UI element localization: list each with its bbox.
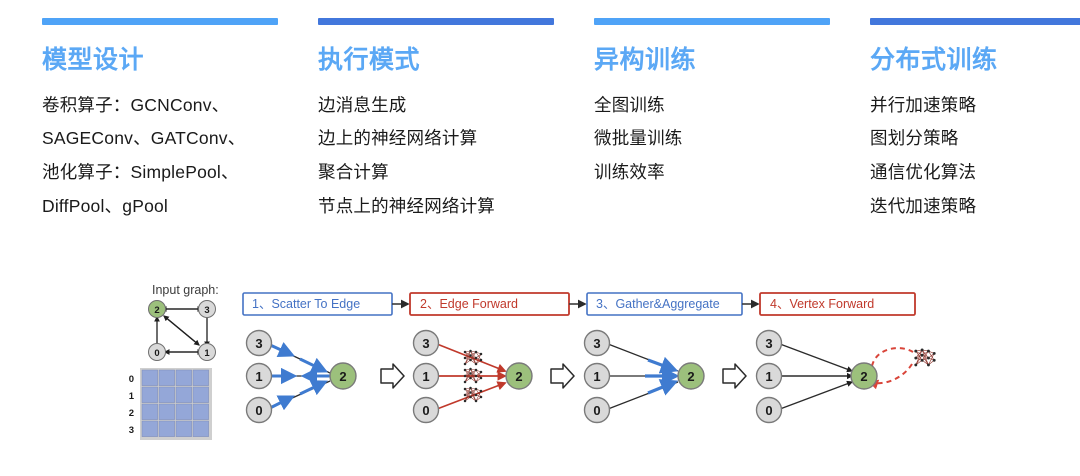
svg-text:3: 3 — [422, 336, 429, 351]
matrix-cell — [193, 421, 209, 437]
column-execution-mode: 执行模式 边消息生成 边上的神经网络计算 聚合计算 节点上的神经网络计算 — [296, 0, 572, 258]
matrix-cell — [142, 370, 158, 386]
column-title: 分布式训练 — [870, 47, 1080, 75]
neural-net-glyph — [464, 387, 483, 403]
svg-text:0: 0 — [593, 403, 600, 418]
list-item: 通信优化算法 — [870, 156, 1080, 190]
list-item: 聚合计算 — [318, 156, 554, 190]
svg-text:2: 2 — [339, 369, 346, 384]
matrix-cell — [193, 370, 209, 386]
matrix-cell — [159, 404, 175, 420]
svg-text:0: 0 — [422, 403, 429, 418]
column-item-list: 全图训练 微批量训练 训练效率 — [594, 89, 830, 190]
list-item: DiffPool、gPool — [42, 190, 278, 224]
input-graph-node: 3 — [199, 301, 216, 318]
svg-text:1: 1 — [204, 348, 210, 359]
panel-vertex-forward: 3 1 0 2 — [757, 331, 936, 423]
graph-node: 3 — [585, 331, 610, 356]
list-item: 全图训练 — [594, 89, 830, 123]
pipeline-step-label: 3、Gather&Aggregate — [596, 297, 720, 311]
neural-net-glyph — [464, 350, 483, 366]
panel-edge-forward: 3 1 0 2 — [414, 331, 533, 423]
matrix-cell — [142, 421, 158, 437]
graph-node: 1 — [585, 364, 610, 389]
list-item: 池化算子：SimplePool、 — [42, 156, 278, 190]
list-item: 节点上的神经网络计算 — [318, 190, 554, 224]
svg-text:0: 0 — [765, 403, 772, 418]
column-title: 执行模式 — [318, 47, 554, 75]
list-item: 边上的神经网络计算 — [318, 122, 554, 156]
panel-separator-arrow — [551, 364, 574, 388]
column-heterogeneous-training: 异构训练 全图训练 微批量训练 训练效率 — [572, 0, 848, 258]
neural-net-glyph — [914, 349, 935, 367]
svg-text:3: 3 — [255, 336, 262, 351]
column-model-design: 模型设计 卷积算子：GCNConv、 SAGEConv、GATConv、 池化算… — [0, 0, 296, 258]
matrix-row-label: 0 — [129, 374, 134, 385]
svg-text:1: 1 — [593, 369, 600, 384]
matrix-cell — [176, 421, 192, 437]
svg-text:1: 1 — [765, 369, 772, 384]
column-accent-bar — [318, 18, 554, 25]
svg-text:1: 1 — [422, 369, 429, 384]
panel-gather-aggregate: 3 1 0 2 — [585, 331, 705, 423]
matrix-row-label: 1 — [129, 391, 135, 402]
graph-node: 0 — [414, 398, 439, 423]
column-title: 模型设计 — [42, 47, 278, 75]
graph-node: 0 — [585, 398, 610, 423]
matrix-cell — [142, 404, 158, 420]
graph-node: 1 — [757, 364, 782, 389]
matrix-cell — [176, 404, 192, 420]
graph-node: 1 — [414, 364, 439, 389]
input-graph-node: 0 — [149, 344, 166, 361]
list-item: 迭代加速策略 — [870, 190, 1080, 224]
graph-node: 0 — [247, 398, 272, 423]
matrix-cell — [159, 370, 175, 386]
svg-text:3: 3 — [593, 336, 600, 351]
slide-root: 模型设计 卷积算子：GCNConv、 SAGEConv、GATConv、 池化算… — [0, 0, 1080, 476]
svg-text:3: 3 — [204, 305, 209, 316]
svg-text:2: 2 — [687, 369, 694, 384]
input-graph-label: Input graph: — [152, 283, 219, 297]
svg-text:0: 0 — [255, 403, 262, 418]
graph-node-target: 2 — [678, 363, 704, 389]
column-item-list: 并行加速策略 图划分策略 通信优化算法 迭代加速策略 — [870, 89, 1080, 224]
neural-net-glyph — [464, 368, 483, 384]
feature-columns: 模型设计 卷积算子：GCNConv、 SAGEConv、GATConv、 池化算… — [0, 0, 1080, 258]
graph-node: 3 — [757, 331, 782, 356]
list-item: 微批量训练 — [594, 122, 830, 156]
svg-text:0: 0 — [154, 348, 159, 359]
graph-node-target: 2 — [851, 363, 877, 389]
list-item: 卷积算子：GCNConv、 — [42, 89, 278, 123]
pipeline-step[interactable]: 3、Gather&Aggregate — [587, 293, 742, 315]
list-item: 边消息生成 — [318, 89, 554, 123]
matrix-row-label: 2 — [129, 408, 134, 419]
svg-text:2: 2 — [860, 369, 867, 384]
list-item: 并行加速策略 — [870, 89, 1080, 123]
graph-node: 3 — [247, 331, 272, 356]
column-accent-bar — [594, 18, 830, 25]
column-accent-bar — [870, 18, 1080, 25]
list-item: 训练效率 — [594, 156, 830, 190]
list-item: SAGEConv、GATConv、 — [42, 122, 278, 156]
input-graph-node: 1 — [199, 344, 216, 361]
pipeline-step[interactable]: 4、Vertex Forward — [760, 293, 915, 315]
matrix-cell — [193, 404, 209, 420]
matrix-cell — [159, 387, 175, 403]
graph-node: 1 — [247, 364, 272, 389]
column-title: 异构训练 — [594, 47, 830, 75]
matrix-cell — [176, 387, 192, 403]
pipeline-step-label: 2、Edge Forward — [420, 297, 518, 311]
graph-node: 0 — [757, 398, 782, 423]
pipeline-step-label: 4、Vertex Forward — [770, 297, 874, 311]
panel-separator-arrow — [723, 364, 746, 388]
pipeline-step[interactable]: 1、Scatter To Edge — [243, 293, 392, 315]
input-graph-node: 2 — [149, 301, 166, 318]
matrix-cell — [159, 421, 175, 437]
matrix-row-label: 3 — [129, 425, 134, 436]
graph-node: 3 — [414, 331, 439, 356]
column-distributed-training: 分布式训练 并行加速策略 图划分策略 通信优化算法 迭代加速策略 — [848, 0, 1080, 258]
svg-text:1: 1 — [255, 369, 262, 384]
list-item: 图划分策略 — [870, 122, 1080, 156]
column-item-list: 边消息生成 边上的神经网络计算 聚合计算 节点上的神经网络计算 — [318, 89, 554, 224]
graph-node-target: 2 — [330, 363, 356, 389]
pipeline-step-label: 1、Scatter To Edge — [252, 297, 360, 311]
panel-separator-arrow — [381, 364, 404, 388]
input-graph-block: Input graph: — [129, 283, 219, 440]
adjacency-matrix-row-labels: 0123 — [129, 374, 135, 436]
gnn-pipeline-diagram: Input graph: — [0, 268, 1080, 476]
pipeline-step-headers: 1、Scatter To Edge 2、Edge Forward 3、Gathe… — [243, 293, 915, 315]
column-accent-bar — [42, 18, 278, 25]
pipeline-step[interactable]: 2、Edge Forward — [410, 293, 569, 315]
matrix-cell — [176, 370, 192, 386]
graph-node-target: 2 — [506, 363, 532, 389]
column-item-list: 卷积算子：GCNConv、 SAGEConv、GATConv、 池化算子：Sim… — [42, 89, 278, 224]
svg-text:2: 2 — [154, 305, 159, 316]
adjacency-matrix — [140, 368, 212, 440]
svg-text:3: 3 — [765, 336, 772, 351]
matrix-cell — [142, 387, 158, 403]
svg-text:2: 2 — [515, 369, 522, 384]
self-loop-edge — [872, 348, 913, 366]
matrix-cell — [193, 387, 209, 403]
